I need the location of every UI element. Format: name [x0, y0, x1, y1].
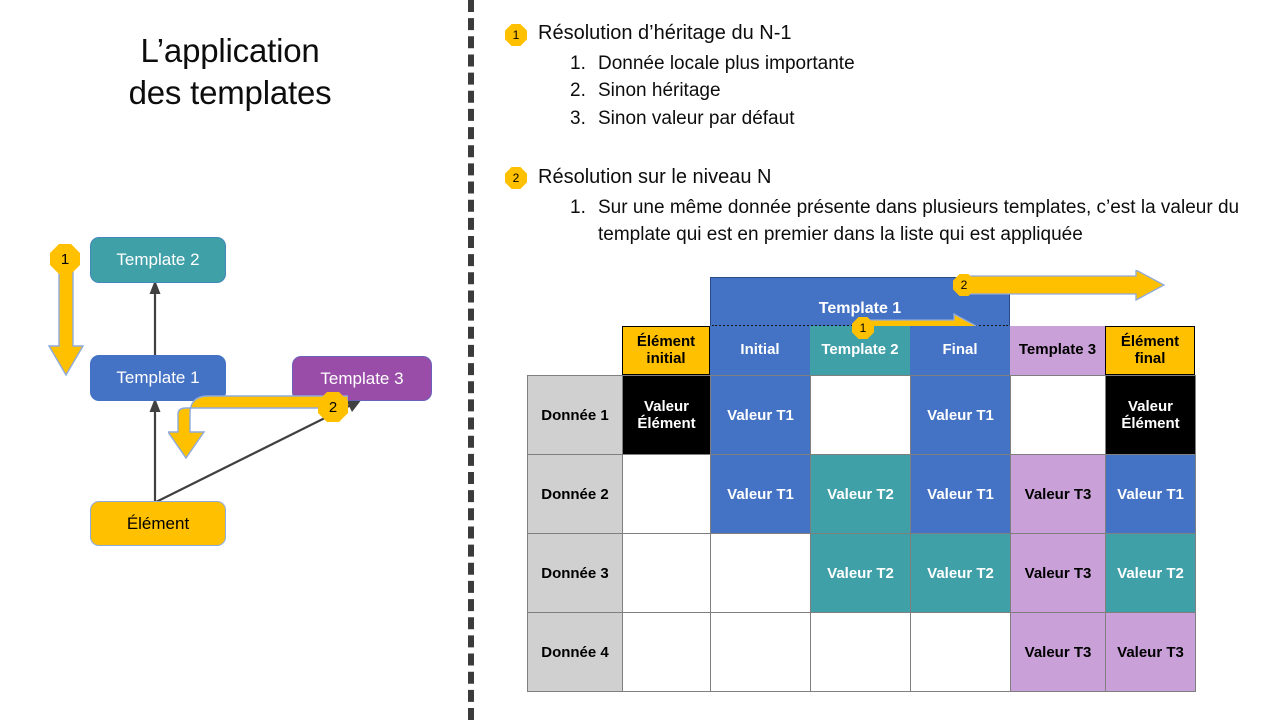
cell: Valeur T1 — [711, 455, 811, 534]
cell-line1: Valeur — [623, 398, 710, 415]
table-row: Donnée 4 Valeur T3 Valeur T3 — [528, 613, 1196, 692]
row-label: Donnée 1 — [528, 376, 623, 455]
cell: Valeur T1 — [1106, 455, 1196, 534]
bullet-2-heading-text: Résolution sur le niveau N — [538, 166, 771, 188]
cell — [623, 455, 711, 534]
cell-line2: Élément — [623, 415, 710, 432]
cell: Valeur T3 — [1011, 455, 1106, 534]
cell — [623, 534, 711, 613]
matrix-header-element-initial: Élément initial — [622, 326, 710, 375]
matrix-arrow-badge-1-label: 1 — [860, 321, 867, 335]
cell: Valeur T1 — [911, 376, 1011, 455]
cell: Valeur Élément — [623, 376, 711, 455]
matrix-header-template2-label: Template 2 — [821, 342, 898, 359]
diagram-node-element[interactable]: Élément — [90, 501, 226, 546]
table-row: Donnée 3 Valeur T2 Valeur T2 Valeur T3 V… — [528, 534, 1196, 613]
cell: Valeur T2 — [811, 534, 911, 613]
cell-line2: Élément — [1106, 415, 1195, 432]
cell: Valeur T1 — [711, 376, 811, 455]
diagram-node-element-label: Élément — [127, 514, 189, 534]
cell — [911, 613, 1011, 692]
vertical-dashed-divider — [468, 0, 474, 720]
cell-line1: Valeur — [1106, 398, 1195, 415]
list-item-text: Sinon valeur par défaut — [598, 105, 794, 132]
matrix-header-final: Final — [910, 326, 1010, 375]
cell — [811, 376, 911, 455]
page-title: L’application des templates — [20, 30, 440, 114]
list-item-number: 3. — [570, 105, 598, 132]
page-title-line2: des templates — [20, 72, 440, 114]
table-row: Donnée 2 Valeur T1 Valeur T2 Valeur T1 V… — [528, 455, 1196, 534]
list-item-number: 1. — [570, 194, 598, 249]
cell: Valeur T3 — [1106, 613, 1196, 692]
diagram-badge-2: 2 — [318, 392, 348, 422]
bullet-badge-2-label: 2 — [513, 171, 520, 185]
cell: Valeur T2 — [811, 455, 911, 534]
slide-canvas: L’application des templates Template 2 T… — [0, 0, 1280, 720]
list-item: 1. Sur une même donnée présente dans plu… — [570, 194, 1270, 249]
list-item-number: 1. — [570, 50, 598, 77]
diagram-node-template1-label: Template 1 — [116, 368, 199, 388]
bullet-1-sublist: 1. Donnée locale plus importante 2. Sino… — [570, 50, 1270, 132]
matrix-arrow-2 — [958, 270, 1166, 304]
table-row: Donnée 1 Valeur Élément Valeur T1 Valeur… — [528, 376, 1196, 455]
cell: Valeur T1 — [911, 455, 1011, 534]
list-item-text: Sinon héritage — [598, 77, 721, 104]
cell — [811, 613, 911, 692]
cell — [711, 613, 811, 692]
bullet-badge-1-label: 1 — [513, 28, 520, 42]
bullet-1-heading-text: Résolution d’héritage du N-1 — [538, 22, 792, 44]
bullet-badge-1: 1 — [505, 24, 527, 46]
values-matrix: Donnée 1 Valeur Élément Valeur T1 Valeur… — [527, 375, 1196, 692]
page-title-line1: L’application — [20, 30, 440, 72]
cell — [711, 534, 811, 613]
bullet-2-sublist: 1. Sur une même donnée présente dans plu… — [570, 194, 1270, 249]
bullet-badge-2: 2 — [505, 167, 527, 189]
diagram-node-template2-label: Template 2 — [116, 250, 199, 270]
cell — [1011, 376, 1106, 455]
matrix-header-final-label: Final — [942, 342, 977, 359]
diagram-node-template3-label: Template 3 — [320, 369, 403, 389]
list-item-text: Sur une même donnée présente dans plusie… — [598, 194, 1270, 249]
connector-template1-to-template2 — [140, 280, 170, 358]
bullet-1-heading: Résolution d’héritage du N-1 — [538, 20, 1258, 47]
cell: Valeur T2 — [911, 534, 1011, 613]
matrix-header-initial: Initial — [710, 326, 810, 375]
matrix-header-initial-label: Initial — [740, 342, 779, 359]
matrix-header-template3-label: Template 3 — [1019, 342, 1096, 359]
list-item-number: 2. — [570, 77, 598, 104]
list-item: 2. Sinon héritage — [570, 77, 1270, 104]
diagram-badge-2-label: 2 — [329, 399, 337, 416]
matrix-header-element-initial-line2: initial — [646, 351, 685, 368]
list-item: 1. Donnée locale plus importante — [570, 50, 1270, 77]
matrix-header-template3: Template 3 — [1010, 326, 1105, 375]
matrix-header-element-final: Élément final — [1105, 326, 1195, 375]
cell — [623, 613, 711, 692]
list-item-text: Donnée locale plus importante — [598, 50, 855, 77]
bullet-2-heading: Résolution sur le niveau N — [538, 164, 1258, 191]
matrix-header-element-final-line1: Élément — [1121, 334, 1179, 351]
matrix-header-element-initial-line1: Élément — [637, 334, 695, 351]
diagram-node-template2[interactable]: Template 2 — [90, 237, 226, 283]
list-item: 3. Sinon valeur par défaut — [570, 105, 1270, 132]
diagram-badge-1: 1 — [50, 244, 80, 274]
row-label: Donnée 2 — [528, 455, 623, 534]
cell: Valeur T3 — [1011, 613, 1106, 692]
row-label: Donnée 4 — [528, 613, 623, 692]
row-label: Donnée 3 — [528, 534, 623, 613]
cell: Valeur T2 — [1106, 534, 1196, 613]
diagram-badge-1-label: 1 — [61, 251, 69, 268]
matrix-arrow-badge-2-label: 2 — [961, 278, 968, 292]
cell: Valeur T3 — [1011, 534, 1106, 613]
cell: Valeur Élément — [1106, 376, 1196, 455]
matrix-header-element-final-line2: final — [1135, 351, 1166, 368]
